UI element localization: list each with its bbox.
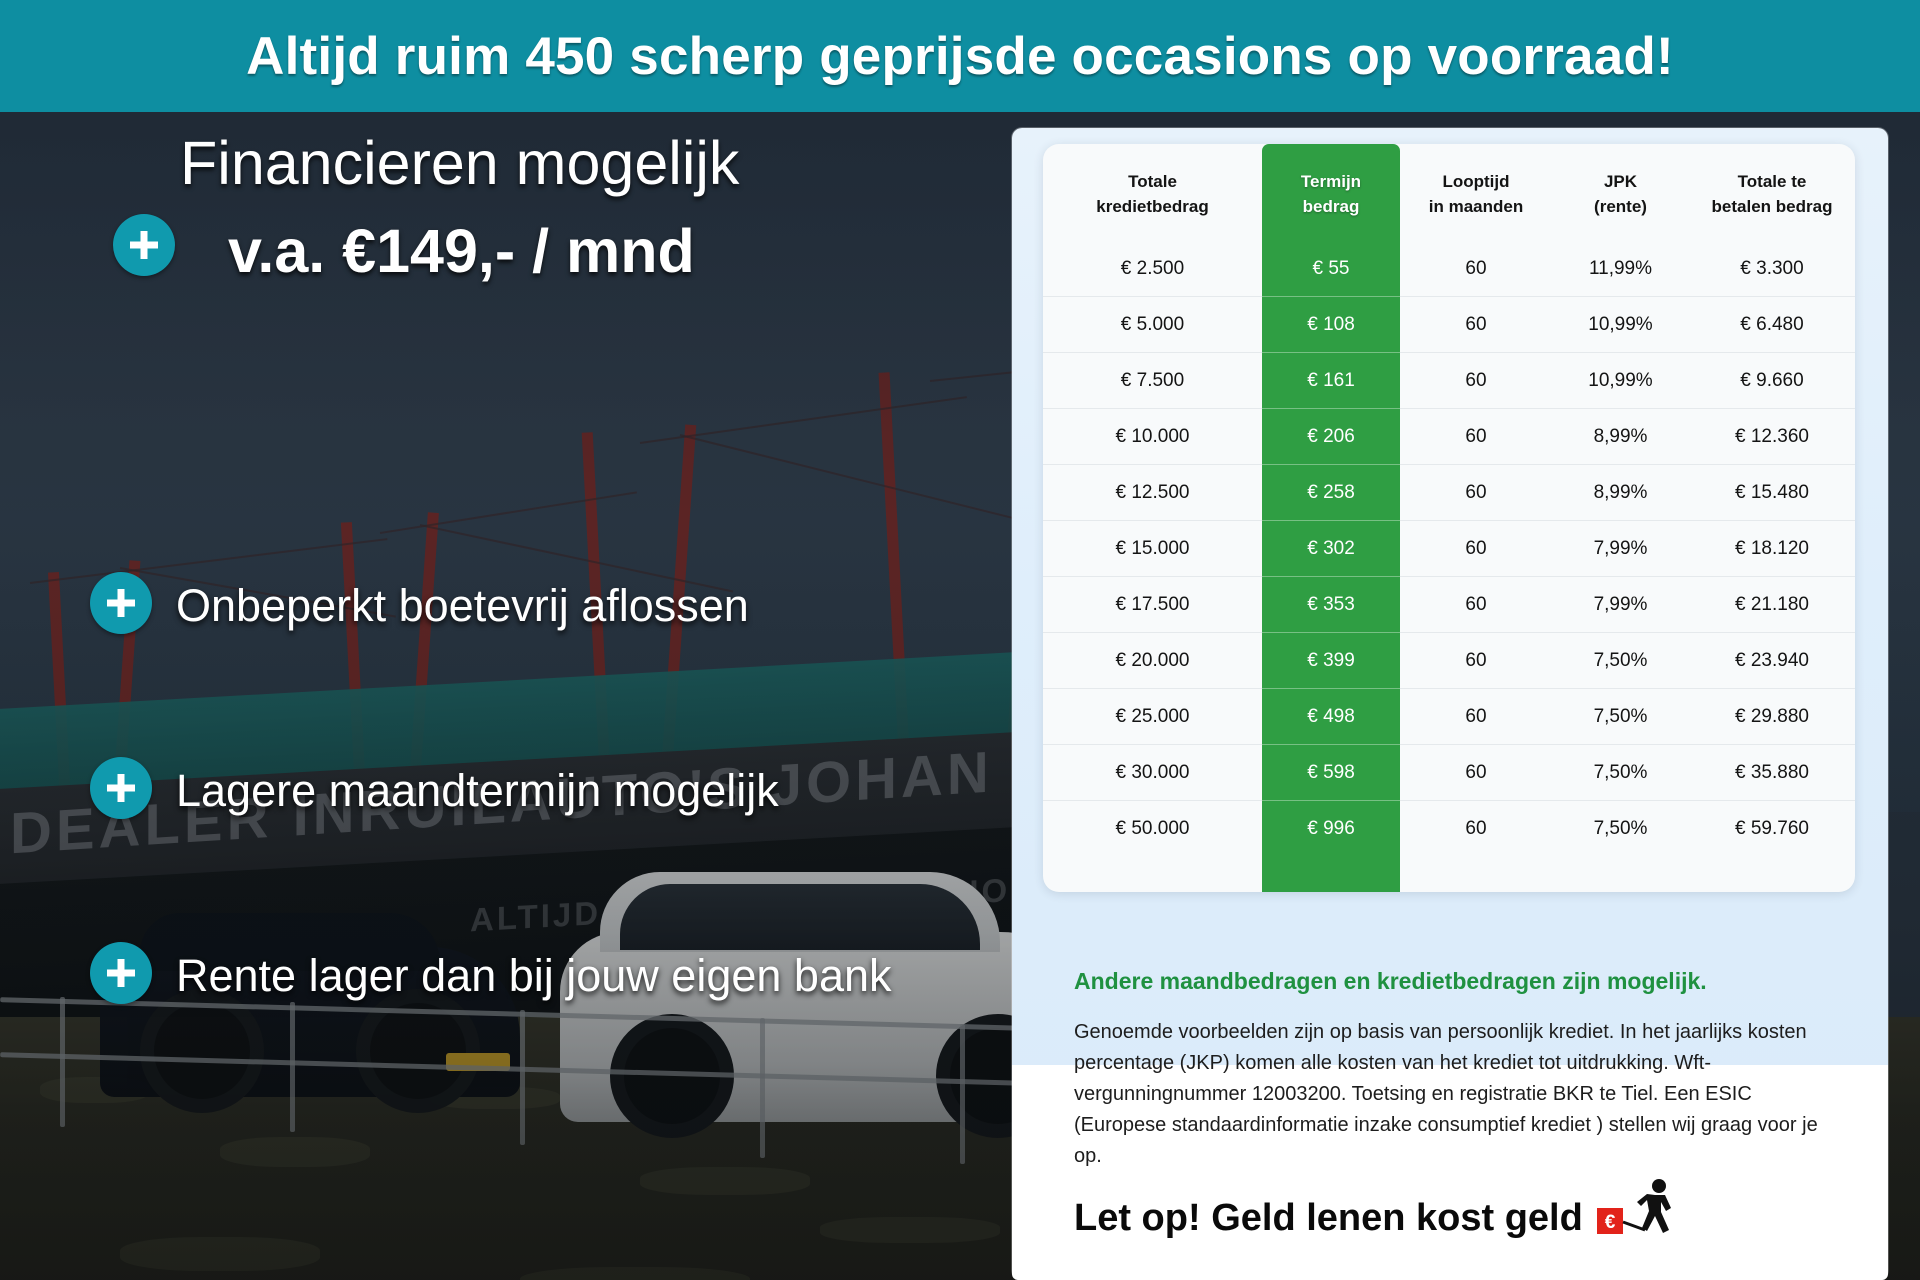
table-row: € 2.500€ 556011,99%€ 3.300 (1043, 241, 1855, 297)
table-row: € 15.000€ 302607,99%€ 18.120 (1043, 521, 1855, 577)
cell-termijn: € 108 (1262, 297, 1400, 353)
header-line-1: Totale te (1693, 170, 1851, 195)
headline-line-1: Financieren mogelijk (180, 128, 739, 198)
cell-krediet: € 5.000 (1043, 297, 1262, 353)
cell-looptijd: 60 (1400, 521, 1552, 577)
cell-totaal: € 18.120 (1689, 521, 1855, 577)
cell-krediet: € 20.000 (1043, 633, 1262, 689)
cell-termijn: € 302 (1262, 521, 1400, 577)
cell-krediet: € 12.500 (1043, 465, 1262, 521)
table-row: € 10.000€ 206608,99%€ 12.360 (1043, 409, 1855, 465)
cell-jkp: 7,50% (1552, 801, 1689, 857)
cell-jkp: 8,99% (1552, 409, 1689, 465)
headline-line-2: v.a. €149,- / mnd (228, 216, 695, 286)
col-header-termijn: Termijn bedrag (1262, 144, 1400, 241)
plus-badge (113, 214, 175, 276)
table-row: € 17.500€ 353607,99%€ 21.180 (1043, 577, 1855, 633)
header-line-1: Looptijd (1404, 170, 1548, 195)
cell-termijn: € 498 (1262, 689, 1400, 745)
cell-krediet: € 17.500 (1043, 577, 1262, 633)
cell-totaal: € 23.940 (1689, 633, 1855, 689)
cell-jkp: 7,99% (1552, 521, 1689, 577)
cell-looptijd: 60 (1400, 689, 1552, 745)
cell-krediet: € 15.000 (1043, 521, 1262, 577)
cell-jkp: 7,50% (1552, 633, 1689, 689)
cell-looptijd: 60 (1400, 577, 1552, 633)
cell-jkp: 10,99% (1552, 353, 1689, 409)
cell-termijn: € 996 (1262, 801, 1400, 857)
finance-table-card: Totale kredietbedrag Termijn bedrag Loop… (1043, 144, 1855, 892)
hero-content: Financieren mogelijk v.a. €149,- / mnd O… (0, 112, 1040, 1280)
plus-badge (90, 942, 152, 1004)
cell-looptijd: 60 (1400, 409, 1552, 465)
cell-krediet: € 50.000 (1043, 801, 1262, 857)
cell-looptijd: 60 (1400, 465, 1552, 521)
table-row: € 7.500€ 1616010,99%€ 9.660 (1043, 353, 1855, 409)
cell-krediet: € 7.500 (1043, 353, 1262, 409)
cell-termijn: € 598 (1262, 745, 1400, 801)
disclaimer-body: Genoemde voorbeelden zijn op basis van p… (1074, 1017, 1834, 1172)
table-header-row: Totale kredietbedrag Termijn bedrag Loop… (1043, 144, 1855, 241)
plus-icon (103, 770, 139, 806)
header-line-2: kredietbedrag (1047, 195, 1258, 220)
disclaimer-block: Andere maandbedragen en kredietbedragen … (1074, 968, 1834, 1172)
cell-totaal: € 35.880 (1689, 745, 1855, 801)
cell-totaal: € 59.760 (1689, 801, 1855, 857)
header-line-2: betalen bedrag (1693, 195, 1851, 220)
table-row: € 12.500€ 258608,99%€ 15.480 (1043, 465, 1855, 521)
cell-krediet: € 25.000 (1043, 689, 1262, 745)
cell-looptijd: 60 (1400, 353, 1552, 409)
plus-badge (90, 757, 152, 819)
finance-table: Totale kredietbedrag Termijn bedrag Loop… (1043, 144, 1855, 856)
table-row: € 50.000€ 996607,50%€ 59.760 (1043, 801, 1855, 857)
cell-totaal: € 15.480 (1689, 465, 1855, 521)
svg-text:€: € (1605, 1212, 1616, 1233)
finance-table-body: € 2.500€ 556011,99%€ 3.300€ 5.000€ 10860… (1043, 241, 1855, 856)
cell-looptijd: 60 (1400, 241, 1552, 297)
cell-looptijd: 60 (1400, 745, 1552, 801)
header-line-1: Totale (1047, 170, 1258, 195)
header-line-2: bedrag (1266, 195, 1396, 220)
plus-icon (103, 585, 139, 621)
plus-icon (126, 227, 162, 263)
cell-krediet: € 10.000 (1043, 409, 1262, 465)
cell-termijn: € 258 (1262, 465, 1400, 521)
cell-termijn: € 206 (1262, 409, 1400, 465)
plus-icon (103, 955, 139, 991)
promo-banner-stage: Altijd ruim 450 scherp geprijsde occasio… (0, 0, 1920, 1280)
cell-termijn: € 161 (1262, 353, 1400, 409)
col-header-krediet: Totale kredietbedrag (1043, 144, 1262, 241)
cell-looptijd: 60 (1400, 801, 1552, 857)
cell-jkp: 11,99% (1552, 241, 1689, 297)
legal-warning: Let op! Geld lenen kost geld € (1074, 1178, 1854, 1240)
table-row: € 30.000€ 598607,50%€ 35.880 (1043, 745, 1855, 801)
col-header-jkp: JPK (rente) (1552, 144, 1689, 241)
cell-looptijd: 60 (1400, 633, 1552, 689)
cell-jkp: 7,50% (1552, 745, 1689, 801)
cell-totaal: € 12.360 (1689, 409, 1855, 465)
top-banner: Altijd ruim 450 scherp geprijsde occasio… (0, 0, 1920, 112)
disclaimer-heading: Andere maandbedragen en kredietbedragen … (1074, 968, 1834, 995)
cell-looptijd: 60 (1400, 297, 1552, 353)
cell-jkp: 8,99% (1552, 465, 1689, 521)
finance-panel: Totale kredietbedrag Termijn bedrag Loop… (1012, 128, 1888, 1280)
cell-termijn: € 55 (1262, 241, 1400, 297)
header-line-2: in maanden (1404, 195, 1548, 220)
bullet-label-1: Lagere maandtermijn mogelijk (176, 765, 779, 817)
cell-totaal: € 29.880 (1689, 689, 1855, 745)
cell-jkp: 7,99% (1552, 577, 1689, 633)
cell-termijn: € 353 (1262, 577, 1400, 633)
legal-warning-text: Let op! Geld lenen kost geld (1074, 1197, 1583, 1240)
cell-totaal: € 3.300 (1689, 241, 1855, 297)
bullet-label-0: Onbeperkt boetevrij aflossen (176, 580, 749, 632)
col-header-totaal: Totale te betalen bedrag (1689, 144, 1855, 241)
cell-krediet: € 2.500 (1043, 241, 1262, 297)
table-row: € 5.000€ 1086010,99%€ 6.480 (1043, 297, 1855, 353)
col-header-looptijd: Looptijd in maanden (1400, 144, 1552, 241)
header-line-2: (rente) (1556, 195, 1685, 220)
cell-jkp: 10,99% (1552, 297, 1689, 353)
plus-badge (90, 572, 152, 634)
cell-jkp: 7,50% (1552, 689, 1689, 745)
table-row: € 25.000€ 498607,50%€ 29.880 (1043, 689, 1855, 745)
geld-lenen-kost-geld-icon: € (1597, 1178, 1683, 1240)
header-line-1: JPK (1556, 170, 1685, 195)
cell-krediet: € 30.000 (1043, 745, 1262, 801)
top-banner-text: Altijd ruim 450 scherp geprijsde occasio… (246, 26, 1674, 87)
bullet-label-2: Rente lager dan bij jouw eigen bank (176, 950, 892, 1002)
cell-totaal: € 9.660 (1689, 353, 1855, 409)
table-row: € 20.000€ 399607,50%€ 23.940 (1043, 633, 1855, 689)
cell-totaal: € 21.180 (1689, 577, 1855, 633)
cell-totaal: € 6.480 (1689, 297, 1855, 353)
cell-termijn: € 399 (1262, 633, 1400, 689)
header-line-1: Termijn (1266, 170, 1396, 195)
